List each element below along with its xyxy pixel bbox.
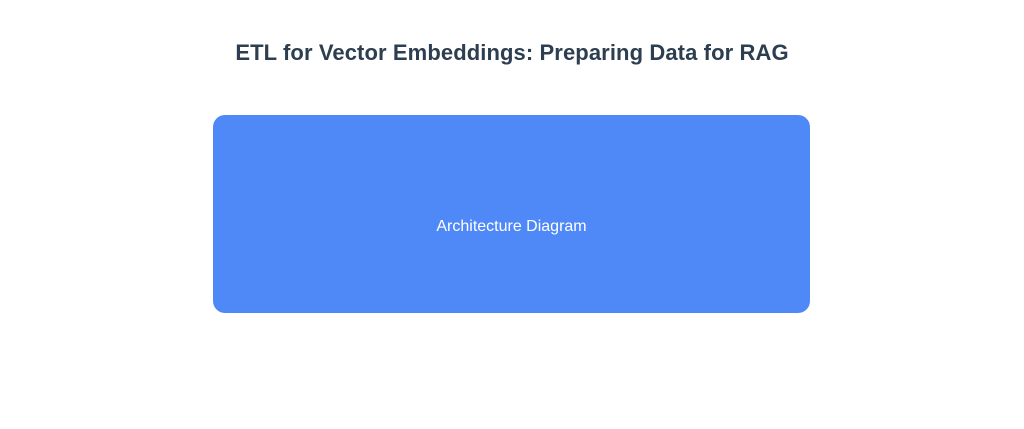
architecture-diagram-placeholder[interactable]: Architecture Diagram [213, 115, 810, 313]
architecture-diagram-label: Architecture Diagram [436, 217, 586, 237]
slide-canvas: ETL for Vector Embeddings: Preparing Dat… [0, 0, 1024, 429]
page-title: ETL for Vector Embeddings: Preparing Dat… [0, 39, 1024, 67]
